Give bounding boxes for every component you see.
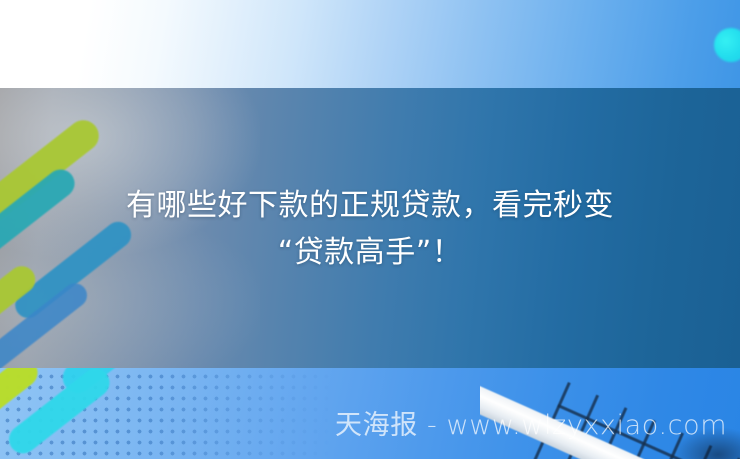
poster-headline: 有哪些好下款的正规贷款，看完秒变 “贷款高手”！ (0, 182, 740, 276)
site-watermark: 天海报 - www.wlzyxxiao.com (335, 409, 727, 443)
poster-canvas: 有哪些好下款的正规贷款，看完秒变 “贷款高手”！ 天海报 - www.wlzyx… (0, 0, 740, 459)
cyan-circle-blob-icon (714, 28, 740, 62)
top-gradient-band (0, 0, 740, 88)
